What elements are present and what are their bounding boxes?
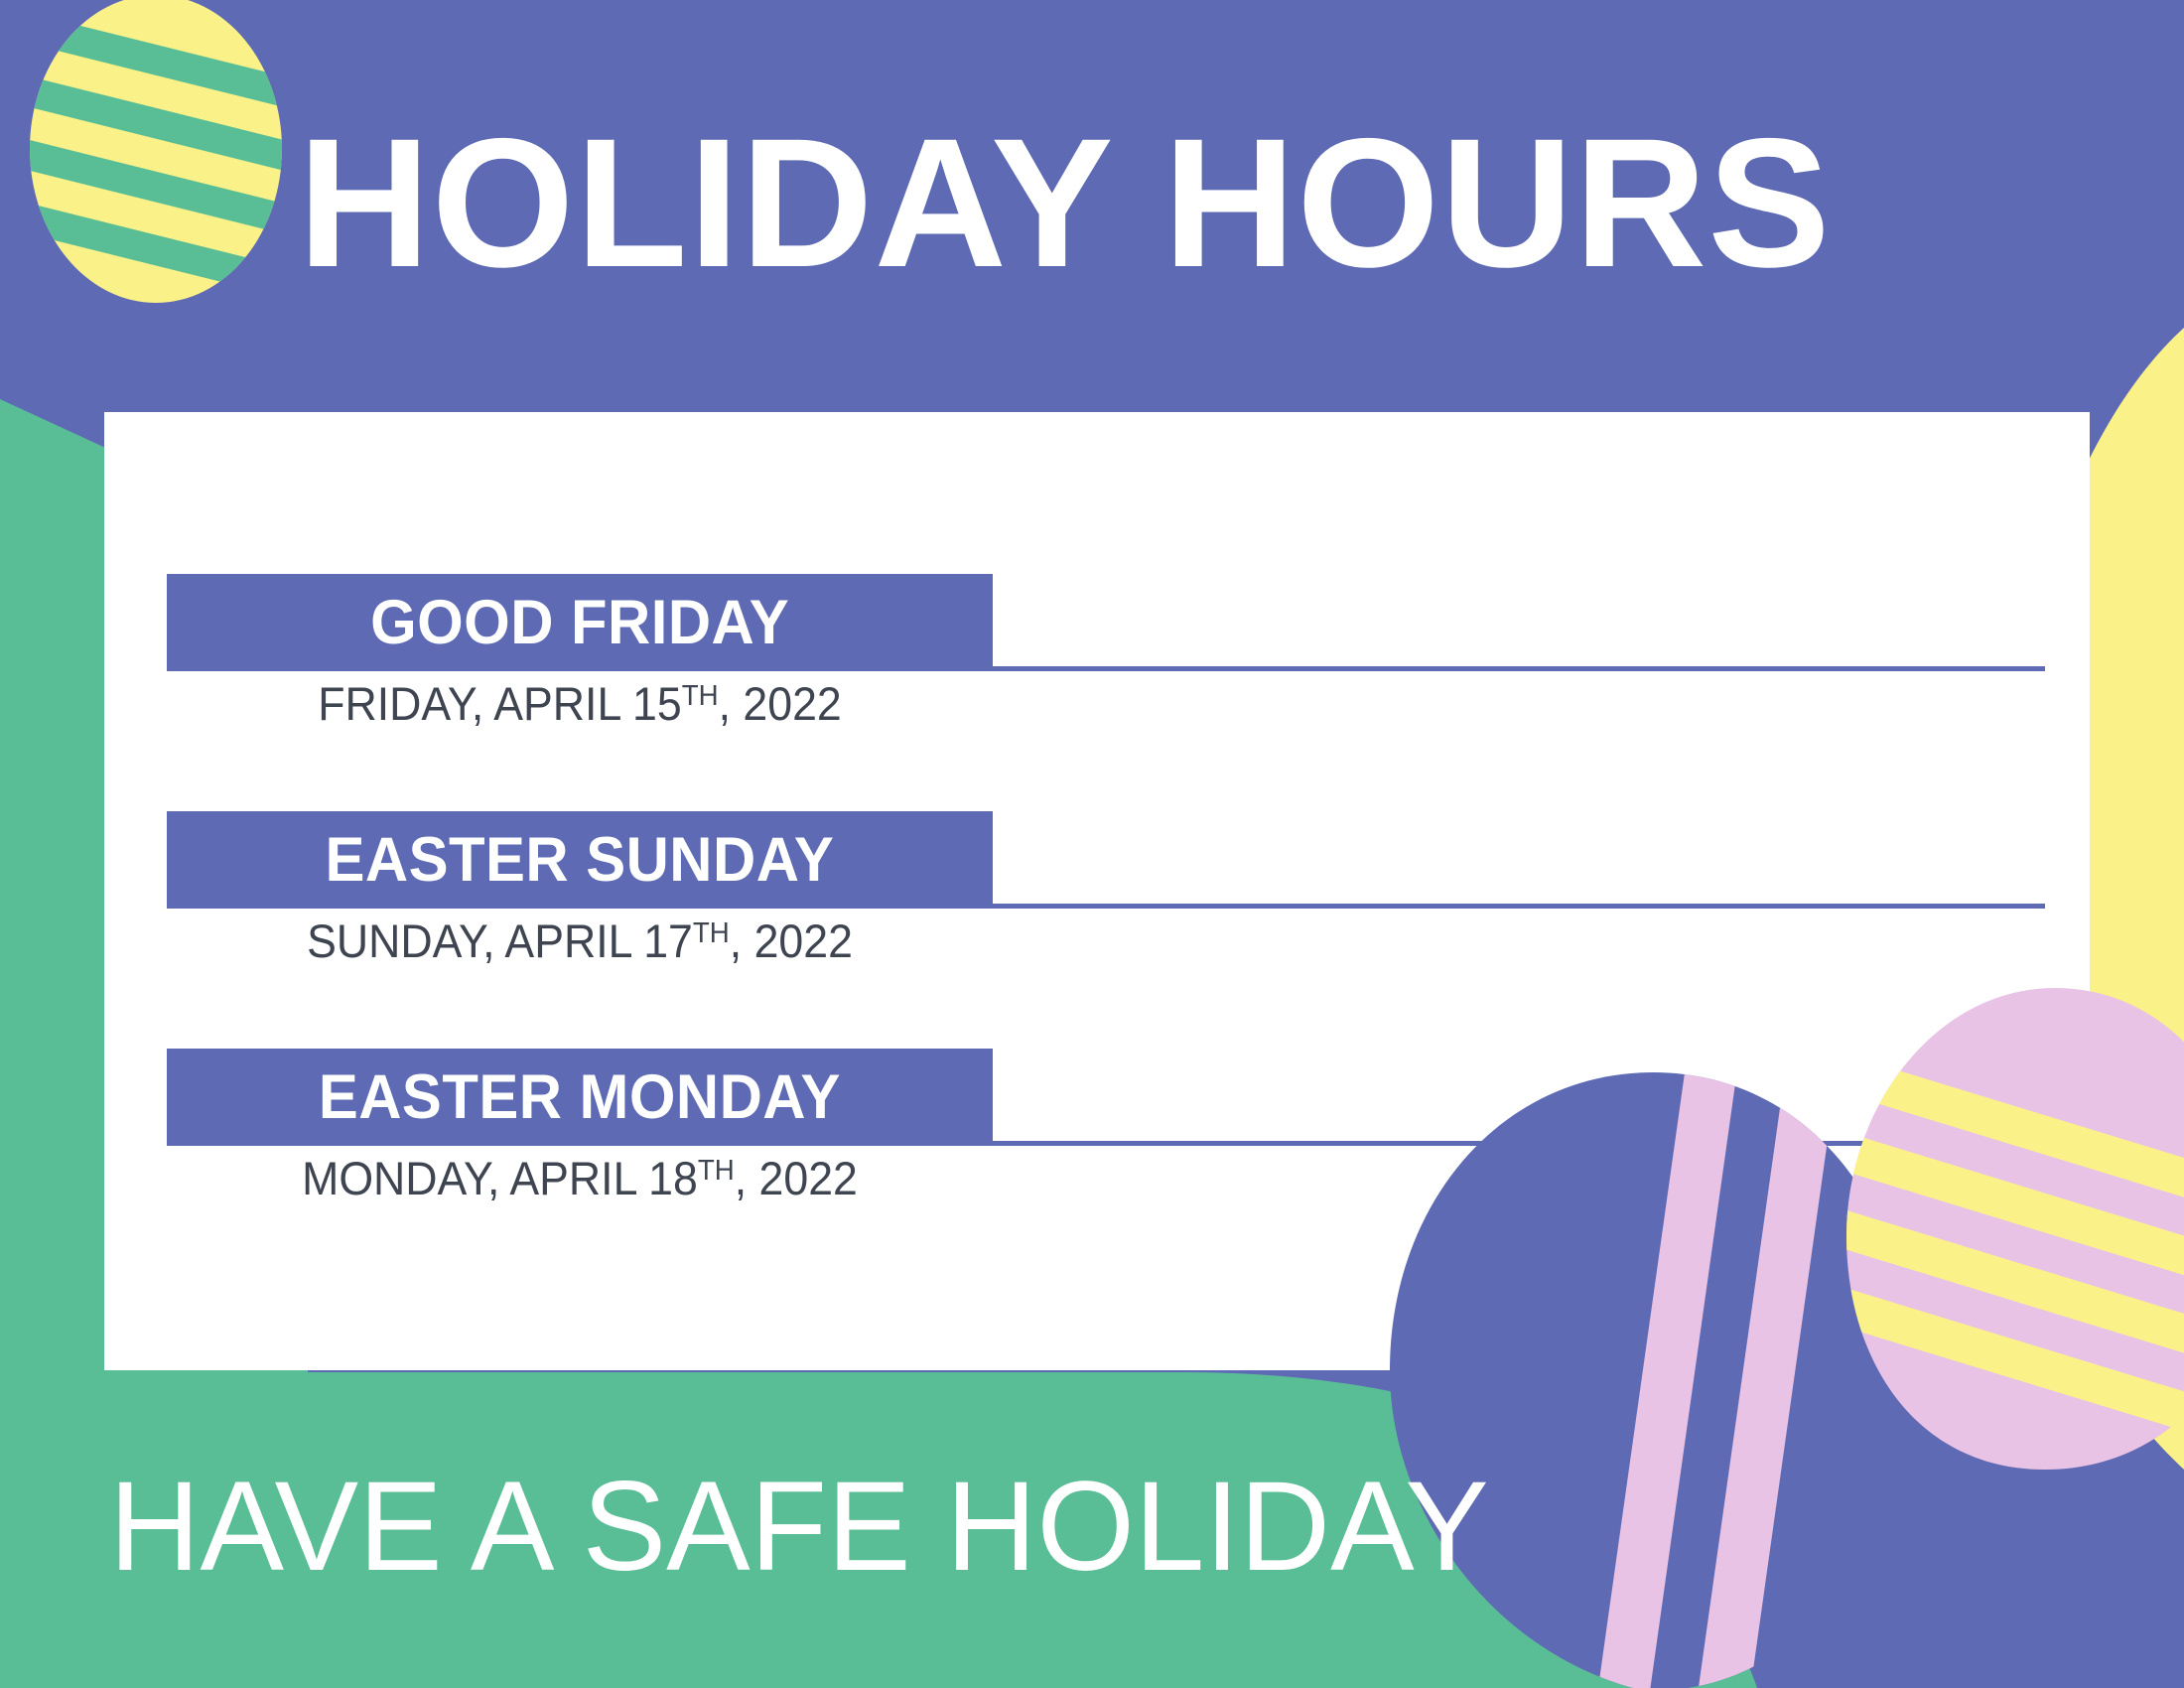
footer-message: HAVE A SAFE HOLIDAY: [109, 1458, 1682, 1597]
foreground-shapes: [0, 0, 2184, 1688]
holiday-hours-poster: HOLIDAY HOURS GOOD FRIDAY FRIDAY, APRIL …: [0, 0, 2184, 1688]
